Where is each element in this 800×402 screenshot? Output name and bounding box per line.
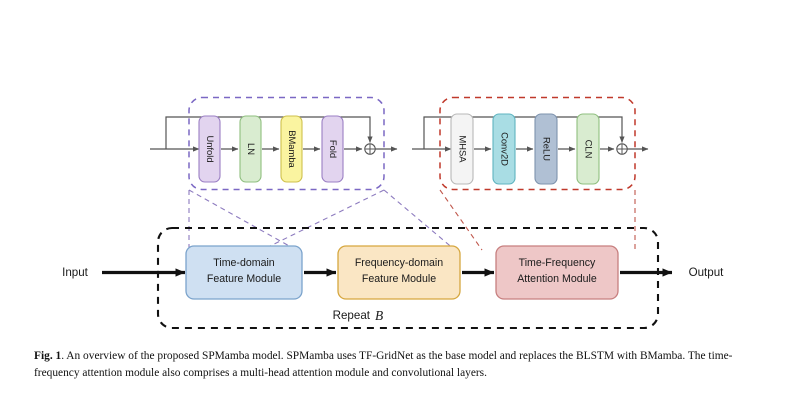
input-label: Input	[62, 266, 89, 279]
caption-line-1: . An overview of the proposed SPMamba mo…	[61, 350, 685, 362]
repeat-label: Repeat B	[333, 308, 384, 323]
time-domain-sum-node	[365, 144, 375, 154]
figure-caption: Fig. 1. An overview of the proposed SPMa…	[34, 348, 770, 381]
block-cln-label: CLN	[584, 140, 595, 159]
attention-connector-lines	[440, 190, 635, 250]
block-bmamba: BMamba	[281, 116, 302, 182]
attention-sum-node	[617, 144, 627, 154]
block-conv2d-label: Conv2D	[500, 132, 511, 166]
stage-time-domain-line1: Time-domain	[213, 257, 275, 269]
repeat-symbol: B	[375, 308, 383, 323]
block-mhsa-label: MHSA	[458, 135, 469, 163]
time-domain-expansion-group: Unfold LN BMamba Fold	[150, 98, 397, 190]
block-relu: ReLU	[535, 114, 557, 184]
stage-attention-line1: Time-Frequency	[519, 257, 596, 269]
caption-figure-number: Fig. 1	[34, 350, 61, 362]
block-unfold: Unfold	[199, 116, 220, 182]
stage-frequency-domain-feature-module: Frequency-domain Feature Module	[338, 246, 460, 299]
attention-expansion-group: MHSA Conv2D ReLU CLN	[412, 98, 648, 190]
repeat-prefix: Repeat	[333, 309, 371, 322]
figure-diagram: Unfold LN BMamba Fold	[0, 0, 800, 345]
pipeline-group: Input Time-domain Feature Module Frequen…	[62, 228, 724, 328]
block-fold: Fold	[322, 116, 343, 182]
block-mhsa: MHSA	[451, 114, 473, 184]
output-label: Output	[689, 266, 725, 279]
block-conv2d: Conv2D	[493, 114, 515, 184]
time-domain-connector-lines	[189, 190, 455, 253]
block-ln: LN	[240, 116, 261, 182]
stage-frequency-domain-line2: Feature Module	[362, 273, 436, 285]
block-bmamba-label: BMamba	[287, 130, 298, 168]
stage-time-domain-line2: Feature Module	[207, 273, 281, 285]
stage-time-domain-feature-module: Time-domain Feature Module	[186, 246, 302, 299]
block-relu-label: ReLU	[542, 137, 553, 161]
block-ln-label: LN	[246, 143, 257, 155]
stage-time-frequency-attention-module: Time-Frequency Attention Module	[496, 246, 618, 299]
stage-attention-line2: Attention Module	[517, 273, 597, 285]
block-fold-label: Fold	[328, 140, 339, 158]
stage-frequency-domain-line1: Frequency-domain	[355, 257, 443, 269]
block-unfold-label: Unfold	[205, 135, 216, 162]
block-cln: CLN	[577, 114, 599, 184]
